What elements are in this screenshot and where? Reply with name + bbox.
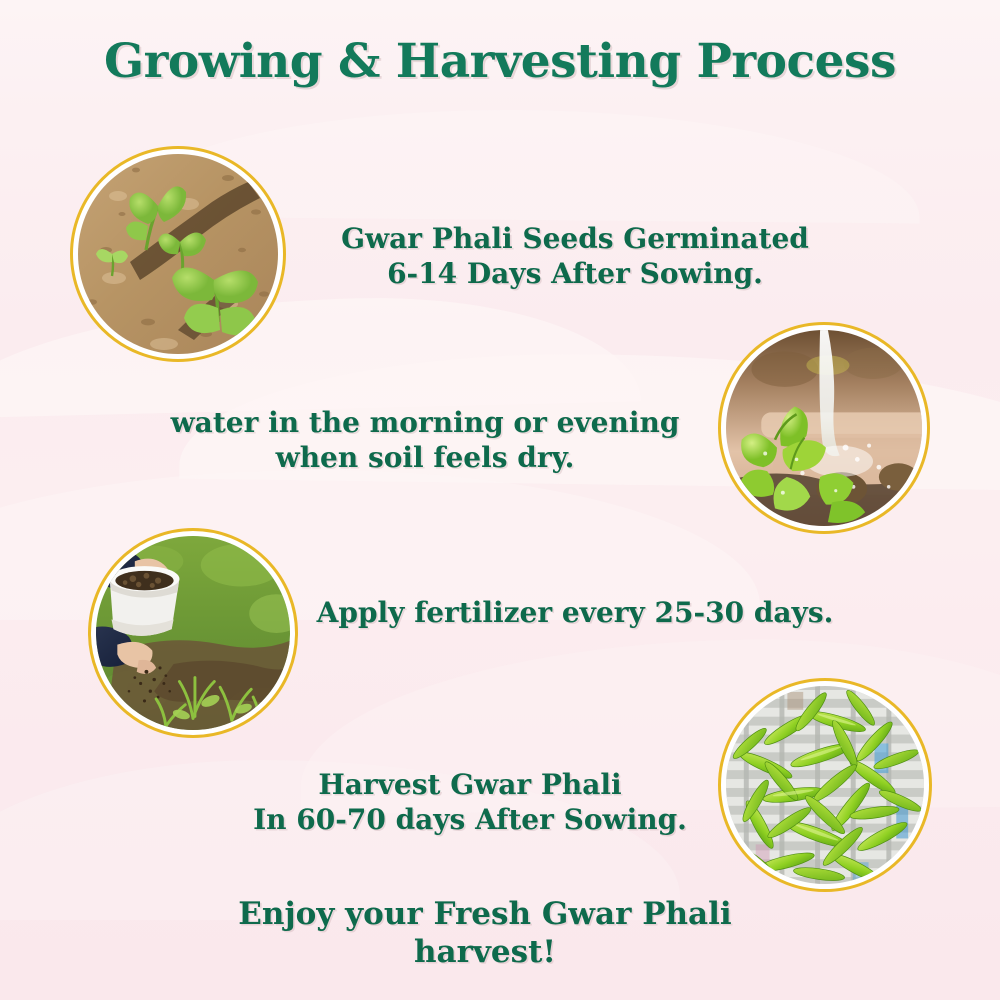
- photo-clip: [78, 154, 278, 354]
- caption-closing: Enjoy your Fresh Gwar Phali harvest!: [195, 896, 775, 972]
- watering-plant-photo: [718, 322, 930, 534]
- applying-fertilizer-photo: [88, 528, 298, 738]
- infographic-poster: Growing & Harvesting Process: [0, 0, 1000, 1000]
- caption-watering: water in the morning or evening when soi…: [145, 406, 705, 475]
- seedlings-illustration: [78, 154, 278, 354]
- watering-illustration: [726, 330, 922, 526]
- fertilizer-illustration: [96, 536, 290, 730]
- caption-fertilizing: Apply fertilizer every 25-30 days.: [285, 596, 865, 631]
- seedlings-in-soil-photo: [70, 146, 286, 362]
- caption-harvest: Harvest Gwar Phali In 60-70 days After S…: [180, 768, 760, 837]
- photo-clip: [726, 330, 922, 526]
- page-title: Growing & Harvesting Process: [0, 34, 1000, 89]
- caption-germination: Gwar Phali Seeds Germinated 6-14 Days Af…: [295, 222, 855, 291]
- photo-clip: [96, 536, 290, 730]
